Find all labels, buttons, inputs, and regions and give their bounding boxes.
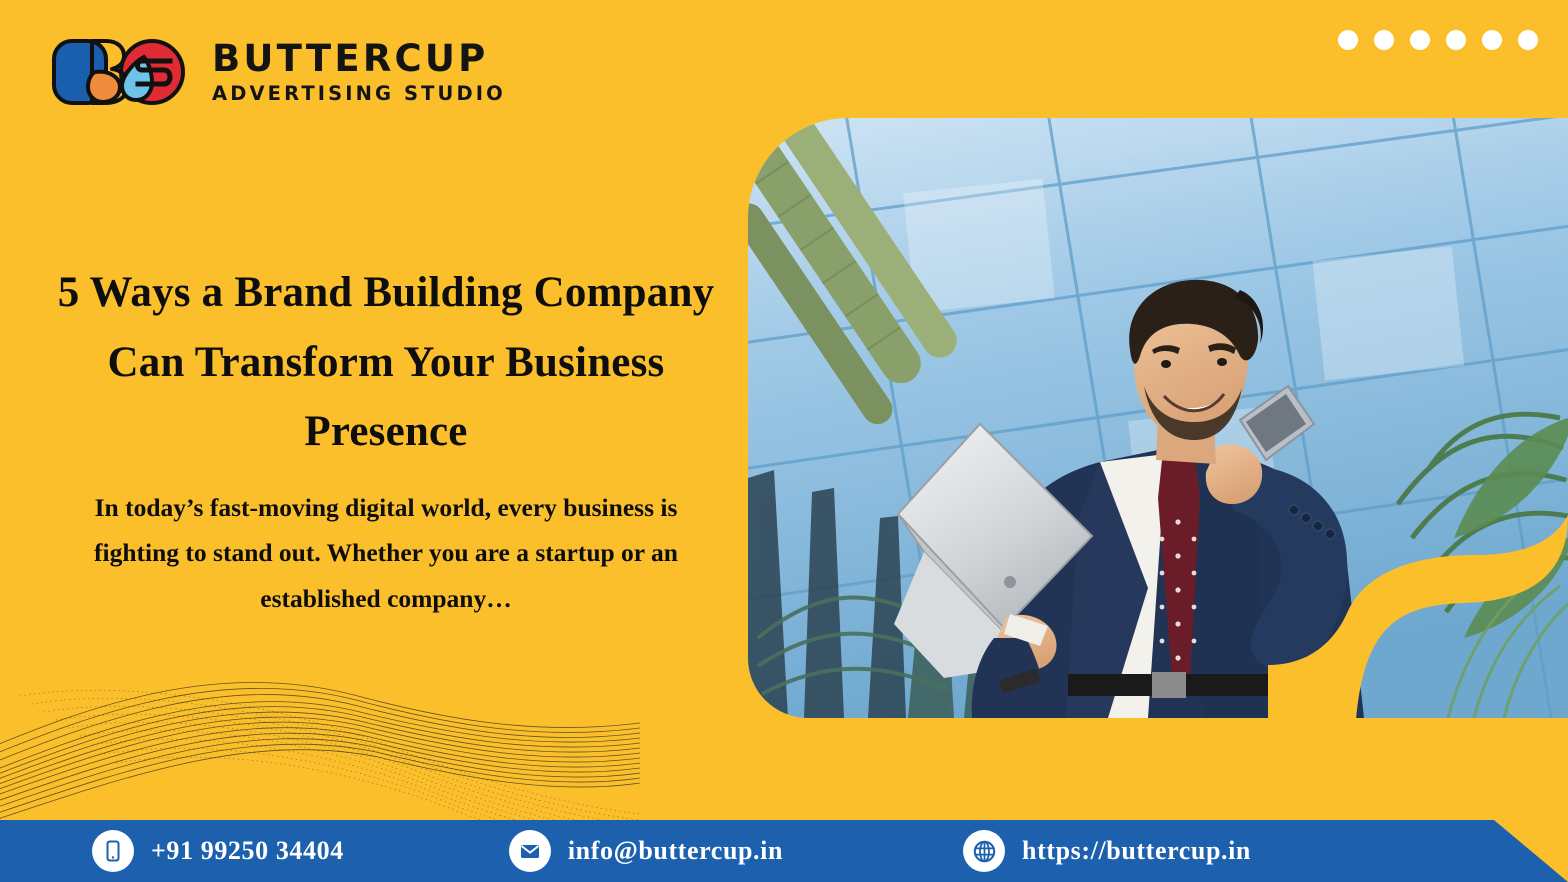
hero-photo-panel — [748, 118, 1568, 718]
phone-icon — [92, 830, 134, 872]
contact-email-label: info@buttercup.in — [568, 836, 783, 866]
dot-icon — [1518, 30, 1538, 50]
contact-website-label: https://buttercup.in — [1022, 836, 1251, 866]
globe-icon — [963, 830, 1005, 872]
brand-tagline: ADVERTISING STUDIO — [212, 84, 506, 104]
copy-block: 5 Ways a Brand Building Company Can Tran… — [52, 258, 720, 621]
dot-icon — [1374, 30, 1394, 50]
contact-phone[interactable]: +91 99250 34404 — [92, 830, 344, 872]
hero-photo — [748, 118, 1568, 718]
contact-phone-label: +91 99250 34404 — [151, 836, 344, 866]
blog-banner: BUTTERCUP ADVERTISING STUDIO 5 Ways a Br… — [0, 0, 1568, 882]
buttercup-bs-monogram-icon — [48, 32, 198, 112]
dot-icon — [1410, 30, 1430, 50]
top-right-dots — [1338, 30, 1538, 50]
contact-email[interactable]: info@buttercup.in — [509, 830, 783, 872]
brand-logo[interactable]: BUTTERCUP ADVERTISING STUDIO — [48, 32, 506, 112]
contact-website[interactable]: https://buttercup.in — [963, 830, 1251, 872]
page-title: 5 Ways a Brand Building Company Can Tran… — [52, 258, 720, 467]
dot-icon — [1338, 30, 1358, 50]
dot-icon — [1482, 30, 1502, 50]
wave-lines-decoration — [0, 600, 640, 840]
dot-icon — [1446, 30, 1466, 50]
page-subtitle: In today’s fast-moving digital world, ev… — [52, 485, 720, 621]
email-icon — [509, 830, 551, 872]
brand-name: BUTTERCUP — [212, 40, 506, 77]
contact-footer-bar: +91 99250 34404 info@buttercup.in — [0, 820, 1568, 882]
